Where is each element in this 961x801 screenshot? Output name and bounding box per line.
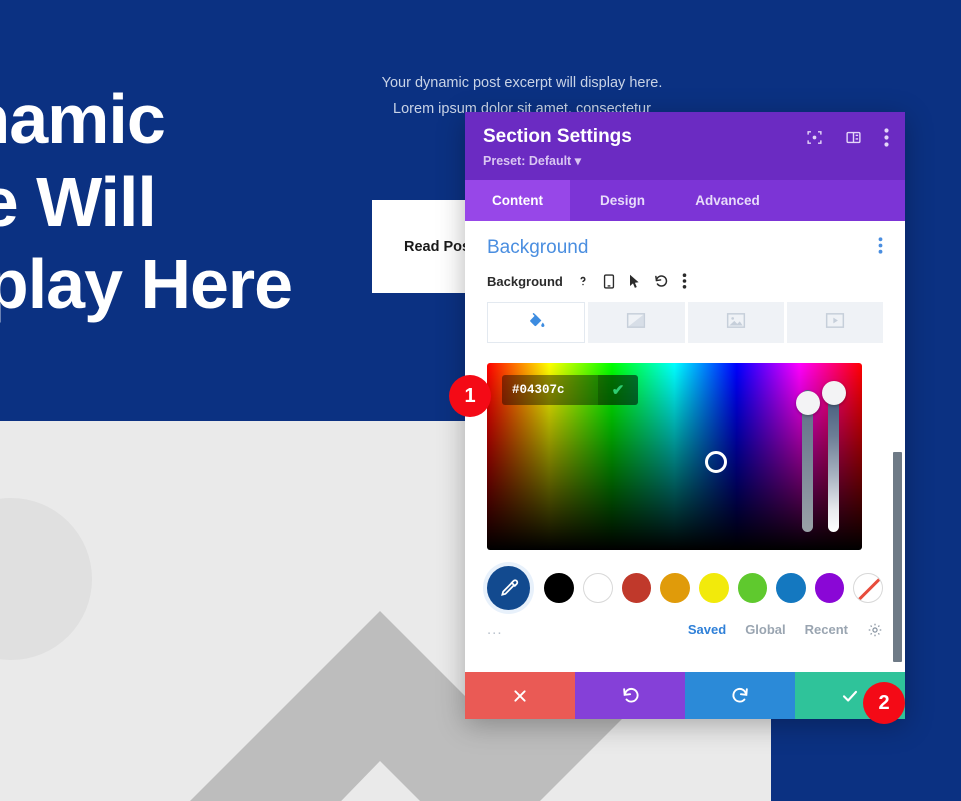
panel-layout-icon[interactable] [845, 129, 862, 146]
gradient-icon [626, 312, 646, 334]
kebab-menu-icon[interactable] [884, 128, 889, 147]
swatch-purple[interactable] [815, 573, 845, 603]
focus-icon[interactable] [806, 129, 823, 146]
background-type-tabs [487, 302, 883, 343]
bg-type-image[interactable] [688, 302, 784, 343]
tab-advanced[interactable]: Advanced [675, 180, 780, 221]
bg-type-video[interactable] [787, 302, 883, 343]
hex-confirm-button[interactable]: ✔ [598, 375, 638, 405]
swatch-red[interactable] [622, 573, 652, 603]
chevron-down-icon: ▾ [575, 154, 581, 168]
paint-bucket-icon [527, 311, 546, 335]
saturation-cursor[interactable] [705, 451, 727, 473]
tab-design[interactable]: Design [570, 180, 675, 221]
modal-body: Background Background [465, 221, 905, 672]
callout-badge-2: 2 [863, 682, 905, 724]
more-swatches-button[interactable]: ... [487, 621, 503, 638]
cancel-button[interactable] [465, 672, 575, 719]
field-kebab-icon[interactable] [682, 273, 687, 289]
swatch-tab-saved[interactable]: Saved [688, 622, 726, 637]
swatch-source-tabs: Saved Global Recent [688, 622, 883, 638]
swatch-white[interactable] [583, 573, 613, 603]
modal-footer [465, 672, 905, 719]
undo-button[interactable] [575, 672, 685, 719]
swatch-tab-global[interactable]: Global [745, 622, 785, 637]
preset-selector[interactable]: Preset: Default ▾ [483, 153, 887, 168]
swatch-black[interactable] [544, 573, 574, 603]
section-kebab-icon[interactable] [878, 237, 883, 259]
modal-scrollbar-thumb[interactable] [893, 452, 902, 662]
hex-input-group: ✔ [502, 375, 638, 405]
modal-tabs: Content Design Advanced [465, 180, 905, 221]
callout-badge-1: 1 [449, 375, 491, 417]
bg-type-color[interactable] [487, 302, 585, 343]
eyedropper-button[interactable] [487, 566, 530, 610]
swatch-orange[interactable] [660, 573, 690, 603]
preset-label: Preset: Default [483, 154, 571, 168]
alpha-slider[interactable] [828, 385, 839, 532]
swatch-footer: ... Saved Global Recent [487, 621, 883, 638]
help-icon[interactable] [576, 274, 590, 288]
background-section-header: Background [487, 237, 883, 259]
responsive-icon[interactable] [603, 274, 615, 289]
background-field-label: Background [487, 274, 563, 289]
swatch-blue[interactable] [776, 573, 806, 603]
hue-slider-knob[interactable] [796, 391, 820, 415]
alpha-slider-knob[interactable] [822, 381, 846, 405]
screenshot-stage: Dynamic Title Will Display Here Your dyn… [0, 0, 961, 801]
settings-gear-icon[interactable] [867, 622, 883, 638]
reset-icon[interactable] [654, 274, 669, 289]
tab-content[interactable]: Content [465, 180, 570, 221]
modal-header: Section Settings Preset: Default ▾ [465, 112, 905, 180]
section-title: Background [487, 237, 588, 259]
swatch-transparent[interactable] [853, 573, 883, 603]
modal-header-icons [806, 128, 889, 147]
swatch-yellow[interactable] [699, 573, 729, 603]
video-icon [825, 312, 845, 334]
color-picker: ✔ [487, 363, 883, 550]
background-field-row: Background [487, 273, 883, 289]
redo-button[interactable] [685, 672, 795, 719]
section-settings-modal: Section Settings Preset: Default ▾ [465, 112, 905, 719]
swatch-tab-recent[interactable]: Recent [805, 622, 848, 637]
bg-type-gradient[interactable] [588, 302, 684, 343]
image-icon [726, 312, 746, 334]
color-swatch-row [487, 566, 883, 610]
swatch-green[interactable] [738, 573, 768, 603]
hex-input[interactable] [502, 376, 598, 404]
hover-cursor-icon[interactable] [628, 274, 641, 289]
